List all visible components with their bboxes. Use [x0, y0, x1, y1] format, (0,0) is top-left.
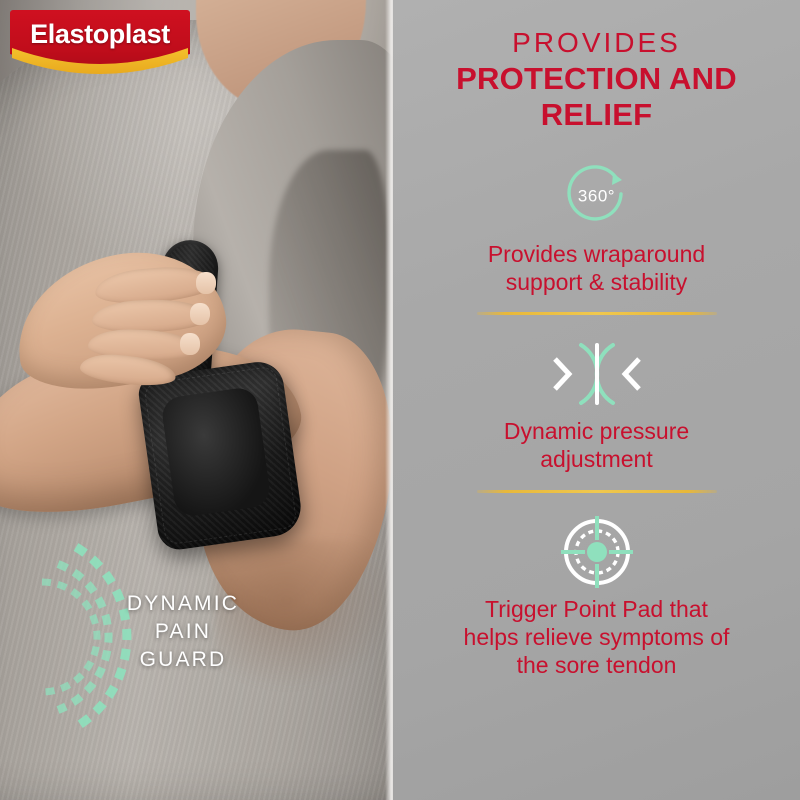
dynamic-pressure-icon: [539, 337, 655, 411]
benefit-item-wraparound: 360° Provides wraparound support & stabi…: [407, 154, 786, 315]
headline-line-2: PROTECTION AND: [407, 61, 786, 97]
benefit-icon-slot: [407, 331, 786, 417]
benefit-text-line-1: Dynamic pressure: [421, 417, 772, 445]
benefit-text-wraparound: Provides wraparound support & stability: [407, 240, 786, 296]
model-fingernail: [180, 333, 200, 355]
logo-wordmark: Elastoplast: [10, 19, 190, 50]
benefit-text-line-1: Trigger Point Pad that: [421, 595, 772, 623]
benefit-item-pressure: Dynamic pressure adjustment: [407, 331, 786, 492]
benefit-text-line-1: Provides wraparound: [421, 240, 772, 268]
panel-divider-seam: [385, 0, 393, 800]
pain-guard-line-2: PAIN: [88, 618, 278, 646]
benefit-item-trigger-point: Trigger Point Pad that helps relieve sym…: [407, 509, 786, 679]
product-feature-graphic: Elastoplast DYNAMIC PAIN GUARD PROVIDES …: [0, 0, 800, 800]
pain-guard-line-1: DYNAMIC: [88, 590, 278, 618]
benefit-icon-slot: [407, 509, 786, 595]
benefit-text-line-2: adjustment: [421, 445, 772, 473]
benefit-icon-slot: 360°: [407, 154, 786, 240]
benefit-text-line-3: the sore tendon: [421, 651, 772, 679]
headline-line-1: PROVIDES: [407, 26, 786, 59]
benefits-panel: PROVIDES PROTECTION AND RELIEF 360° Prov…: [393, 0, 800, 800]
model-fingernail: [190, 303, 210, 325]
benefit-text-line-2: support & stability: [421, 268, 772, 296]
rotate-360-icon: 360°: [560, 160, 634, 234]
headline: PROVIDES PROTECTION AND RELIEF: [407, 26, 786, 132]
brace-trigger-point-pad: [160, 386, 272, 518]
model-fingernail: [196, 272, 216, 294]
trigger-point-target-icon: [555, 510, 639, 594]
pain-guard-label: DYNAMIC PAIN GUARD: [88, 590, 278, 674]
product-photo-panel: Elastoplast DYNAMIC PAIN GUARD: [0, 0, 393, 800]
dynamic-pain-guard-badge: DYNAMIC PAIN GUARD: [6, 522, 346, 752]
benefit-text-pressure: Dynamic pressure adjustment: [407, 417, 786, 473]
headline-line-3: RELIEF: [407, 97, 786, 133]
benefit-text-line-2: helps relieve symptoms of: [421, 623, 772, 651]
elastoplast-logo: Elastoplast: [10, 10, 190, 76]
section-divider: [477, 312, 717, 315]
pain-guard-line-3: GUARD: [88, 646, 278, 674]
section-divider: [477, 490, 717, 493]
rotate-360-label: 360°: [560, 187, 634, 207]
benefit-text-trigger-point: Trigger Point Pad that helps relieve sym…: [407, 595, 786, 679]
